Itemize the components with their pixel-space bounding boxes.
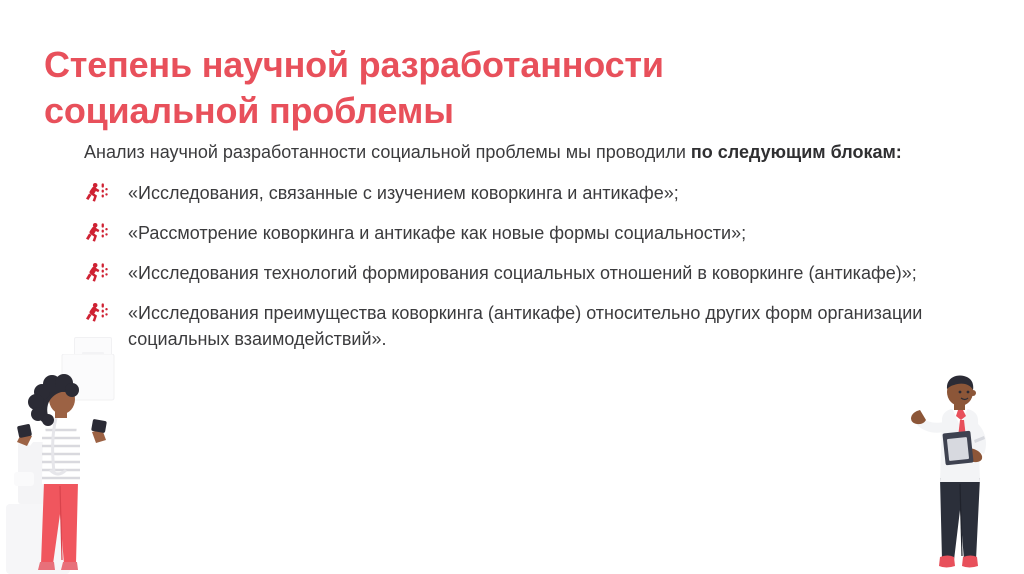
man-with-clipboard-illustration xyxy=(904,374,1014,574)
list-item-text: «Исследования, связанные с изучением ков… xyxy=(128,183,679,203)
slide-content: Анализ научной разработанности социально… xyxy=(84,140,964,352)
list-item: «Исследования технологий формирования со… xyxy=(84,260,958,286)
running-person-icon xyxy=(84,302,110,324)
list-item: «Исследования, связанные с изучением ков… xyxy=(84,180,958,206)
bullet-list: «Исследования, связанные с изучением ков… xyxy=(84,180,964,352)
list-item: «Исследования преимущества коворкинга (а… xyxy=(84,300,958,352)
woman-with-cups-illustration xyxy=(0,374,130,574)
slide-root: Степень научной разработанности социальн… xyxy=(0,0,1024,574)
lead-bold: по следующим блокам: xyxy=(691,142,902,162)
page-title: Степень научной разработанности социальн… xyxy=(44,42,744,133)
list-item-text: «Исследования технологий формирования со… xyxy=(128,263,917,283)
lead-paragraph: Анализ научной разработанности социально… xyxy=(84,140,914,166)
running-person-icon xyxy=(84,222,110,244)
list-item-text: «Рассмотрение коворкинга и антикафе как … xyxy=(128,223,746,243)
running-person-icon xyxy=(84,182,110,204)
page-title-line-2: социальной проблемы xyxy=(44,88,744,134)
list-item: «Рассмотрение коворкинга и антикафе как … xyxy=(84,220,958,246)
running-person-icon xyxy=(84,262,110,284)
lead-normal: Анализ научной разработанности социально… xyxy=(84,142,691,162)
page-title-line-1: Степень научной разработанности xyxy=(44,42,744,88)
list-item-text: «Исследования преимущества коворкинга (а… xyxy=(128,303,922,349)
